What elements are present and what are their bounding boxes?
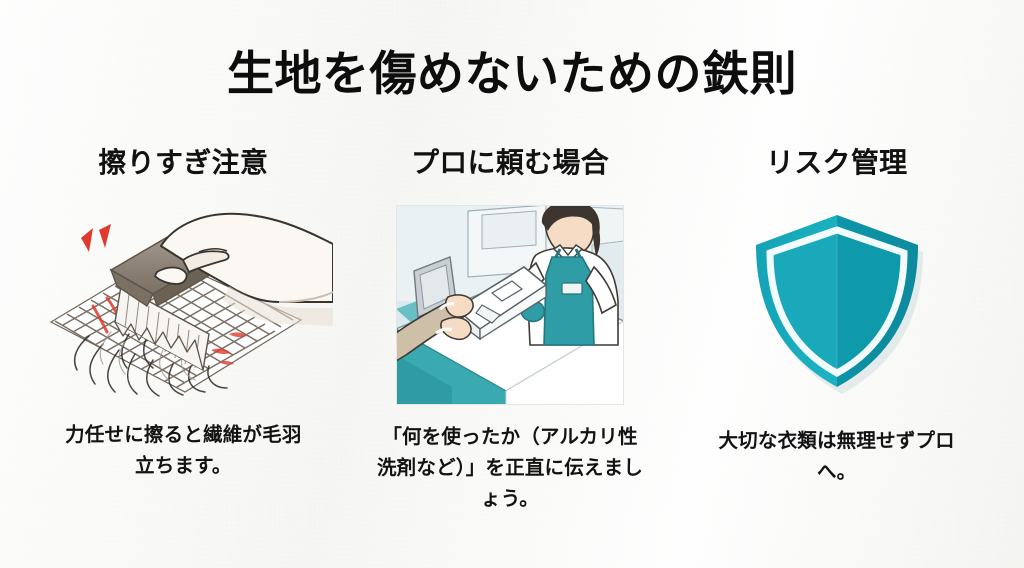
shield-icon [744,203,930,403]
dry-cleaner-counter-illustration [396,205,624,405]
brush-scrubbing-fabric-illustration [33,194,333,400]
figure-1 [33,192,333,402]
column-risk-management: リスク管理 [673,146,1000,488]
figure-3 [687,198,987,408]
column-heading-3: リスク管理 [766,146,908,180]
column-professional-service: プロに頼む場合 [347,146,674,515]
figure-2 [360,200,660,410]
column-caption-1: 力任せに擦ると繊維が毛羽立ちます。 [58,420,308,482]
column-heading-2: プロに頼む場合 [411,146,609,180]
column-caption-3: 大切な衣類は無理せずプロへ。 [714,426,959,488]
column-caption-2: 「何を使ったか（アルカリ性洗剤など）」を正直に伝えましょう。 [375,422,645,515]
three-column-layout: 擦りすぎ注意 [0,146,1024,556]
column-scrubbing-warning: 擦りすぎ注意 [20,146,347,482]
column-heading-1: 擦りすぎ注意 [98,146,268,180]
page-title: 生地を傷めないための鉄則 [0,46,1024,102]
slide-canvas: 生地を傷めないための鉄則 擦りすぎ注意 [0,0,1024,568]
